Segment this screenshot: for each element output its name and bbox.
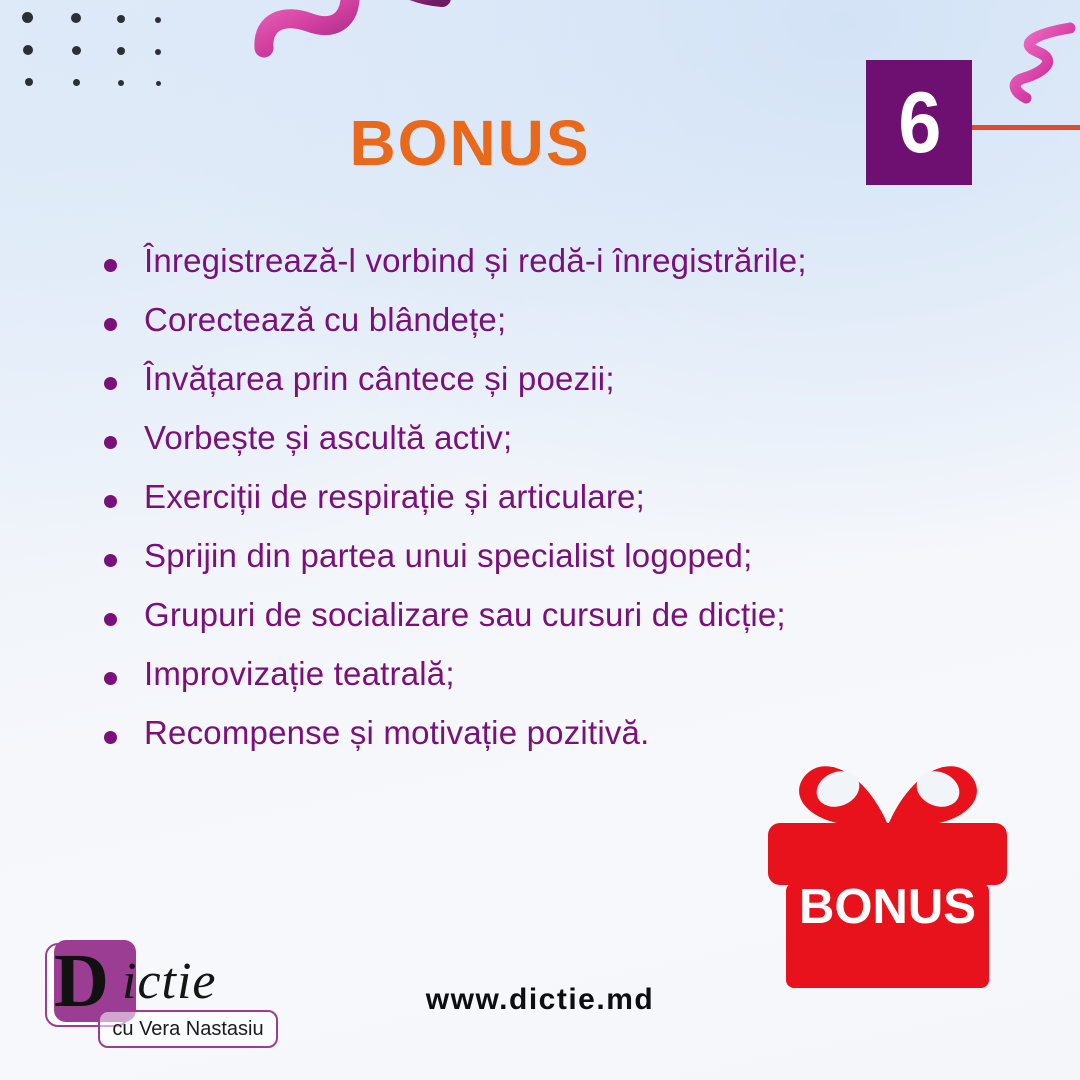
page-title: BONUS xyxy=(0,106,940,180)
ribbon-squiggle-small-icon xyxy=(372,0,462,32)
list-item-label: Sprijin din partea unui specialist logop… xyxy=(144,538,1034,575)
slide-canvas: 6 BONUS Înregistrează-l vorbind și redă-… xyxy=(0,0,1080,1080)
logo-tagline: cu Vera Nastasiu xyxy=(112,1018,263,1041)
list-item: Învățarea prin cântece și poezii; xyxy=(104,361,1034,420)
bullet-dot-icon xyxy=(104,613,117,626)
list-item: Înregistrează-l vorbind și redă-i înregi… xyxy=(104,243,1034,302)
gift-box-icon xyxy=(760,745,1015,990)
list-item-label: Vorbește și ascultă activ; xyxy=(144,420,1034,457)
badge-rule-line xyxy=(960,125,1080,130)
list-item: Corectează cu blândețe; xyxy=(104,302,1034,361)
logo-wordmark: ictie xyxy=(122,952,217,1011)
list-item: Grupuri de socializare sau cursuri de di… xyxy=(104,597,1034,656)
list-item-label: Grupuri de socializare sau cursuri de di… xyxy=(144,597,1034,634)
bullet-dot-icon xyxy=(104,259,117,272)
list-item: Vorbește și ascultă activ; xyxy=(104,420,1034,479)
list-item: Improvizație teatrală; xyxy=(104,656,1034,715)
bullet-dot-icon xyxy=(104,377,117,390)
list-item-label: Înregistrează-l vorbind și redă-i înregi… xyxy=(144,243,1034,280)
list-item: Sprijin din partea unui specialist logop… xyxy=(104,538,1034,597)
list-item-label: Învățarea prin cântece și poezii; xyxy=(144,361,1034,398)
list-item-label: Corectează cu blândețe; xyxy=(144,302,1034,339)
bullet-dot-icon xyxy=(104,731,117,744)
bonus-tips-list: Înregistrează-l vorbind și redă-i înregi… xyxy=(104,243,1034,774)
brand-logo[interactable]: D ictie cu Vera Nastasiu xyxy=(40,938,275,1058)
bullet-dot-icon xyxy=(104,436,117,449)
logo-tagline-bubble: cu Vera Nastasiu xyxy=(98,1010,278,1048)
list-item: Exerciții de respirație și articulare; xyxy=(104,479,1034,538)
list-item-label: Improvizație teatrală; xyxy=(144,656,1034,693)
ribbon-spiral-icon xyxy=(1004,18,1080,108)
bullet-dot-icon xyxy=(104,495,117,508)
list-item-label: Exerciții de respirație și articulare; xyxy=(144,479,1034,516)
bullet-dot-icon xyxy=(104,554,117,567)
bullet-dot-icon xyxy=(104,672,117,685)
bullet-dot-icon xyxy=(104,318,117,331)
gift-box-graphic: BONUS xyxy=(760,745,1015,990)
dot-grid-decoration xyxy=(16,6,166,96)
